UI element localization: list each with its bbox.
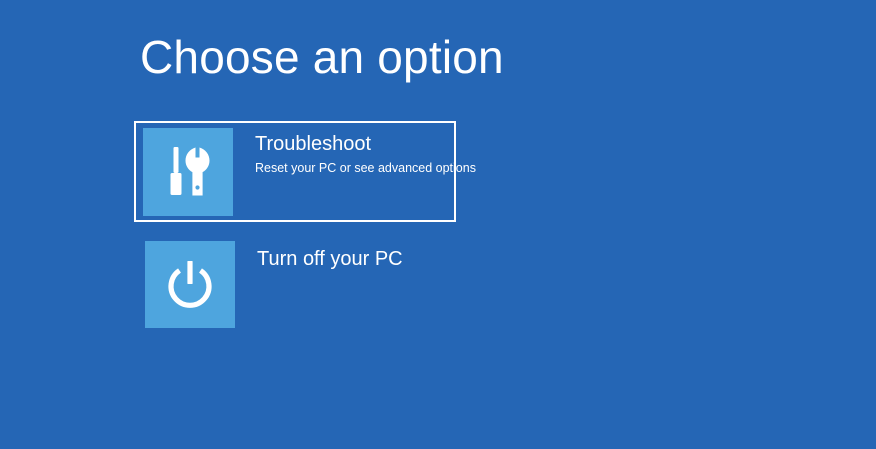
screwdriver-wrench-icon: [164, 145, 212, 199]
page-title: Choose an option: [140, 33, 504, 83]
windows-recovery-choose-option-screen: Choose an option Troubles: [0, 0, 876, 449]
option-troubleshoot-text: Troubleshoot Reset your PC or see advanc…: [233, 128, 454, 176]
option-troubleshoot[interactable]: Troubleshoot Reset your PC or see advanc…: [134, 121, 456, 222]
option-turn-off-your-pc[interactable]: Turn off your PC: [134, 232, 456, 333]
option-turn-off-your-pc-text: Turn off your PC: [235, 241, 403, 272]
option-troubleshoot-icon-tile: [143, 128, 233, 216]
option-troubleshoot-heading: Troubleshoot: [255, 132, 454, 157]
option-turn-off-your-pc-icon-tile: [145, 241, 235, 328]
option-turn-off-your-pc-heading: Turn off your PC: [257, 247, 403, 272]
option-troubleshoot-subtext: Reset your PC or see advanced options: [255, 160, 454, 176]
power-icon: [164, 259, 216, 311]
